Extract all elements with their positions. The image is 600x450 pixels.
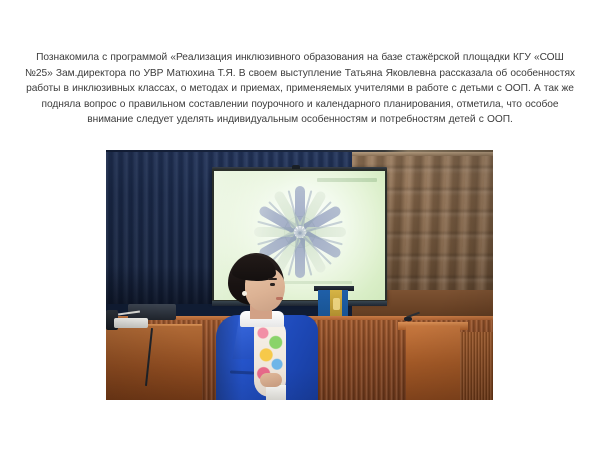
presenter-hand bbox=[260, 373, 282, 387]
podium bbox=[406, 326, 460, 400]
jacket-shading bbox=[216, 315, 242, 400]
photo-frame bbox=[106, 150, 493, 400]
earring-icon bbox=[242, 291, 247, 296]
flag-emblem-icon bbox=[333, 298, 340, 310]
slide-canvas: Познакомила с программой «Реализация инк… bbox=[0, 0, 600, 450]
equipment-table bbox=[106, 326, 202, 400]
caption-paragraph: Познакомила с программой «Реализация инк… bbox=[22, 50, 578, 128]
microphone-icon bbox=[404, 317, 412, 321]
presenter-figure bbox=[214, 253, 318, 400]
wireless-router bbox=[114, 318, 148, 328]
presenter-eye bbox=[270, 283, 275, 286]
white-blouse bbox=[266, 385, 286, 400]
presenter-brow bbox=[268, 278, 277, 280]
presenter-lips bbox=[276, 297, 283, 300]
caption-block: Познакомила с программой «Реализация инк… bbox=[22, 50, 578, 128]
podium-side-panel bbox=[460, 332, 493, 400]
photo-image bbox=[106, 150, 493, 400]
